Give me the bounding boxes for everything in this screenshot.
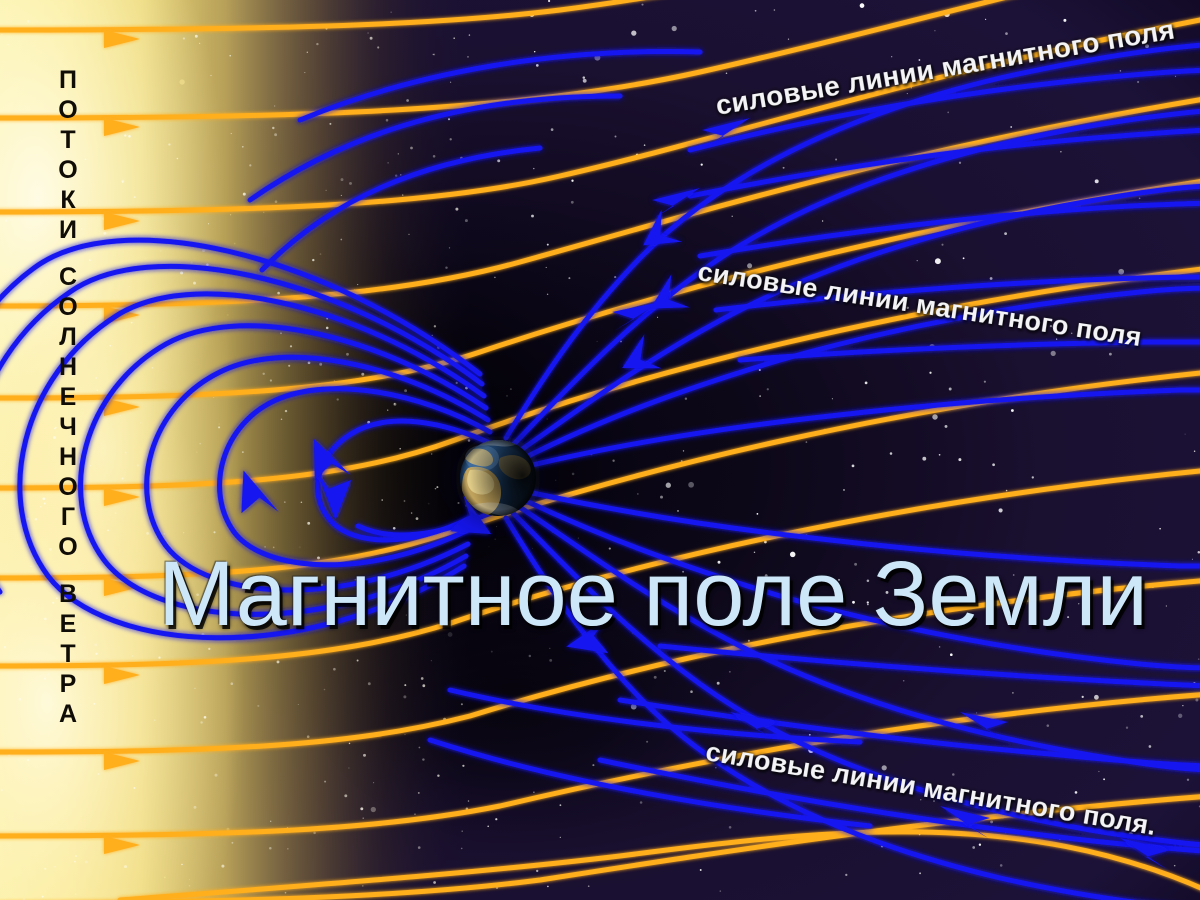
- solar-speckle: [280, 332, 282, 334]
- solar-speckle: [349, 182, 352, 185]
- solar-speckle: [363, 754, 366, 757]
- star: [939, 646, 941, 648]
- solar-speckle: [368, 682, 371, 685]
- star: [732, 216, 733, 217]
- solar-speckle: [341, 195, 342, 196]
- solar-speckle: [93, 703, 95, 705]
- solar-speckle: [243, 193, 246, 196]
- star: [1098, 771, 1099, 772]
- solar-speckle: [431, 660, 432, 661]
- star: [838, 579, 840, 581]
- solar-speckle: [199, 443, 201, 445]
- solar-speckle: [204, 716, 207, 719]
- solar-speckle: [437, 774, 439, 776]
- star: [755, 10, 757, 12]
- solar-speckle: [402, 194, 403, 195]
- solar-speckle: [160, 250, 161, 251]
- star: [1051, 351, 1056, 356]
- solar-speckle: [263, 212, 264, 213]
- star: [890, 452, 893, 455]
- star: [843, 489, 844, 490]
- solar-speckle: [357, 660, 359, 662]
- star: [747, 263, 752, 268]
- solar-speckle: [290, 345, 292, 347]
- star: [911, 87, 912, 88]
- solar-speckle: [177, 158, 179, 160]
- solar-speckle: [461, 830, 462, 831]
- solar-speckle: [450, 138, 452, 140]
- solar-speckle: [317, 556, 320, 559]
- solar-speckle: [418, 792, 420, 794]
- solar-speckle: [221, 865, 224, 868]
- solar-speckle: [462, 765, 464, 767]
- solar-speckle: [432, 335, 433, 336]
- solar-speckle: [168, 143, 170, 145]
- star: [547, 886, 549, 888]
- star: [939, 454, 941, 456]
- solar-speckle: [411, 512, 413, 514]
- solar-speckle: [180, 271, 183, 274]
- star: [1067, 616, 1069, 618]
- solar-speckle: [152, 367, 154, 369]
- solar-speckle: [1, 34, 2, 35]
- solar-speckle: [348, 767, 349, 768]
- star: [972, 846, 975, 849]
- star: [1050, 325, 1052, 327]
- solar-speckle: [4, 646, 6, 648]
- solar-speckle: [124, 134, 126, 136]
- solar-speckle: [433, 881, 436, 884]
- solar-speckle: [344, 794, 347, 797]
- solar-speckle: [270, 821, 271, 822]
- star: [533, 168, 534, 169]
- star: [906, 307, 908, 309]
- star: [882, 765, 887, 770]
- star: [1137, 81, 1139, 83]
- star: [1005, 32, 1008, 35]
- star: [990, 820, 993, 823]
- solar-speckle: [269, 847, 272, 850]
- solar-speckle: [408, 234, 409, 235]
- star: [720, 890, 721, 891]
- solar-speckle: [189, 885, 191, 887]
- star: [1074, 52, 1077, 55]
- star: [1082, 696, 1084, 698]
- star: [1187, 779, 1189, 781]
- solar-speckle: [398, 153, 399, 154]
- star: [903, 680, 905, 682]
- solar-speckle: [158, 657, 160, 659]
- star: [947, 112, 949, 114]
- solar-speckle: [313, 832, 316, 835]
- solar-speckle: [370, 37, 373, 40]
- star: [1063, 19, 1066, 22]
- solar-speckle: [288, 365, 290, 367]
- solar-speckle: [467, 56, 468, 57]
- star: [1175, 76, 1176, 77]
- star: [934, 30, 935, 31]
- star: [672, 26, 677, 31]
- solar-speckle: [360, 807, 363, 810]
- solar-speckle: [435, 488, 437, 490]
- solar-speckle: [183, 37, 185, 39]
- star: [790, 552, 796, 558]
- star: [999, 508, 1003, 512]
- star: [497, 159, 500, 162]
- star: [1078, 603, 1079, 604]
- solar-speckle: [231, 133, 232, 134]
- solar-speckle: [461, 703, 463, 705]
- solar-speckle: [196, 593, 199, 596]
- solar-speckle: [63, 79, 65, 81]
- solar-speckle: [319, 363, 322, 366]
- solar-speckle: [274, 105, 275, 106]
- solar-speckle: [210, 75, 211, 76]
- solar-speckle: [98, 773, 100, 775]
- star: [1198, 658, 1200, 660]
- solar-speckle: [346, 353, 349, 356]
- solar-speckle: [404, 684, 406, 686]
- solar-speckle: [406, 99, 409, 102]
- solar-speckle: [406, 615, 407, 616]
- star: [835, 158, 837, 160]
- star: [588, 885, 590, 887]
- solar-speckle: [333, 668, 336, 671]
- solar-speckle: [431, 453, 432, 454]
- solar-speckle: [62, 201, 64, 203]
- solar-speckle: [181, 864, 182, 865]
- solar-speckle: [133, 787, 135, 789]
- star: [1139, 197, 1141, 199]
- star: [1013, 574, 1015, 576]
- star: [860, 3, 865, 8]
- solar-speckle: [395, 174, 397, 176]
- star: [644, 144, 646, 146]
- star: [583, 76, 586, 79]
- star: [832, 398, 833, 399]
- solar-speckle: [42, 896, 44, 898]
- star: [551, 128, 554, 131]
- star: [1120, 70, 1122, 72]
- star: [1178, 714, 1182, 718]
- solar-speckle: [277, 292, 280, 295]
- star: [1159, 528, 1161, 530]
- solar-speckle: [71, 374, 74, 377]
- solar-speckle: [357, 284, 358, 285]
- solar-speckle: [231, 842, 233, 844]
- star: [1118, 269, 1124, 275]
- solar-speckle: [61, 76, 63, 78]
- solar-speckle: [7, 44, 8, 45]
- solar-wind-glow: [0, 0, 470, 900]
- solar-speckle: [35, 518, 38, 521]
- star: [806, 441, 808, 443]
- solar-speckle: [121, 477, 123, 479]
- solar-speckle: [85, 159, 87, 161]
- star: [726, 73, 728, 75]
- solar-speckle: [373, 782, 374, 783]
- star: [1166, 605, 1167, 606]
- star: [1060, 151, 1061, 152]
- star: [985, 19, 986, 20]
- star: [1047, 724, 1050, 727]
- solar-speckle: [195, 35, 198, 38]
- star: [536, 870, 538, 872]
- star: [1095, 179, 1099, 183]
- solar-speckle: [362, 885, 364, 887]
- solar-speckle: [272, 127, 274, 129]
- solar-speckle: [377, 46, 379, 48]
- solar-speckle: [436, 486, 438, 488]
- solar-speckle: [274, 133, 277, 136]
- star: [935, 258, 941, 264]
- solar-speckle: [134, 196, 136, 198]
- solar-speckle: [208, 223, 209, 224]
- solar-speckle: [47, 673, 49, 675]
- solar-speckle: [94, 643, 97, 646]
- star: [729, 826, 732, 829]
- solar-speckle: [122, 181, 124, 183]
- solar-speckle: [193, 282, 196, 285]
- solar-speckle: [199, 43, 200, 44]
- star: [867, 580, 870, 583]
- solar-speckle: [394, 403, 395, 404]
- solar-speckle: [218, 426, 220, 428]
- solar-speckle: [119, 415, 120, 416]
- star: [1071, 333, 1072, 334]
- star: [1094, 695, 1099, 700]
- solar-speckle: [403, 695, 406, 698]
- star: [867, 601, 869, 603]
- solar-speckle: [363, 818, 364, 819]
- star: [984, 381, 986, 383]
- star: [1140, 715, 1143, 718]
- solar-speckle: [27, 759, 29, 761]
- solar-speckle: [109, 345, 111, 347]
- star: [963, 257, 965, 259]
- star: [1174, 865, 1176, 867]
- solar-speckle: [434, 325, 436, 327]
- star: [1195, 699, 1198, 702]
- solar-speckle: [304, 72, 305, 73]
- solar-speckle: [422, 684, 425, 687]
- star: [919, 872, 921, 874]
- solar-speckle: [26, 518, 29, 521]
- solar-speckle: [469, 34, 470, 35]
- solar-speckle: [242, 146, 244, 148]
- solar-speckle: [115, 512, 116, 513]
- solar-speckle: [301, 501, 303, 503]
- solar-speckle: [132, 655, 134, 657]
- star: [922, 457, 926, 461]
- solar-speckle: [95, 653, 97, 655]
- solar-speckle: [49, 548, 52, 551]
- solar-speckle: [44, 502, 46, 504]
- solar-speckle: [229, 55, 231, 57]
- star: [701, 163, 703, 165]
- solar-speckle: [146, 532, 149, 535]
- star: [992, 463, 995, 466]
- star: [854, 563, 857, 566]
- solar-speckle: [281, 418, 283, 420]
- solar-speckle: [125, 452, 127, 454]
- star: [1084, 821, 1088, 825]
- star: [1109, 353, 1112, 356]
- solar-speckle: [257, 705, 259, 707]
- solar-speckle: [381, 499, 383, 501]
- star: [1032, 476, 1034, 478]
- star: [941, 244, 943, 246]
- solar-speckle: [340, 239, 342, 241]
- solar-speckle: [326, 327, 329, 330]
- star: [950, 653, 953, 656]
- solar-speckle: [410, 147, 413, 150]
- star: [852, 465, 855, 468]
- solar-speckle: [285, 410, 287, 412]
- solar-speckle: [324, 781, 326, 783]
- star: [976, 712, 977, 713]
- solar-speckle: [208, 648, 210, 650]
- solar-speckle: [386, 119, 389, 122]
- solar-speckle: [416, 517, 419, 520]
- star: [774, 9, 776, 11]
- solar-speckle: [129, 286, 130, 287]
- solar-speckle: [361, 373, 364, 376]
- solar-speckle: [163, 533, 164, 534]
- solar-speckle: [1, 789, 3, 791]
- star: [979, 844, 981, 846]
- solar-speckle: [202, 249, 205, 252]
- star: [959, 162, 961, 164]
- solar-speckle: [355, 579, 357, 581]
- solar-speckle: [200, 721, 202, 723]
- solar-speckle: [52, 602, 54, 604]
- star: [700, 869, 702, 871]
- star: [865, 382, 868, 385]
- star: [1075, 791, 1078, 794]
- solar-speckle: [54, 866, 56, 868]
- solar-speckle: [393, 527, 396, 530]
- magnetosphere-diagram: ПОТОКИСОЛНЕЧНОГОВЕТРА силовые линии магн…: [0, 0, 1200, 900]
- star: [641, 4, 643, 6]
- solar-speckle: [242, 451, 243, 452]
- solar-speckle: [96, 377, 97, 378]
- star: [1012, 692, 1014, 694]
- solar-speckle: [391, 12, 392, 13]
- solar-speckle: [277, 660, 280, 663]
- star: [1056, 339, 1057, 340]
- star: [907, 93, 908, 94]
- solar-speckle: [468, 439, 471, 442]
- star: [919, 59, 921, 61]
- solar-speckle: [53, 436, 56, 439]
- star: [1010, 126, 1012, 128]
- star: [1182, 705, 1183, 706]
- solar-speckle: [387, 162, 388, 163]
- solar-speckle: [44, 678, 46, 680]
- star: [1011, 409, 1014, 412]
- star: [1192, 559, 1193, 560]
- solar-speckle: [457, 502, 459, 504]
- solar-speckle: [44, 868, 46, 870]
- solar-speckle: [215, 774, 218, 777]
- star: [548, 0, 550, 2]
- star: [1006, 490, 1008, 492]
- solar-speckle: [224, 621, 226, 623]
- star: [534, 51, 535, 52]
- solar-speckle: [349, 743, 351, 745]
- star: [920, 799, 921, 800]
- solar-speckle: [419, 747, 421, 749]
- solar-speckle: [308, 361, 311, 364]
- star: [952, 773, 955, 776]
- star: [933, 800, 935, 802]
- star: [1145, 44, 1149, 48]
- solar-speckle: [103, 232, 106, 235]
- star: [615, 136, 617, 138]
- solar-speckle: [89, 259, 91, 261]
- solar-speckle: [329, 123, 331, 125]
- solar-speckle: [312, 259, 314, 261]
- solar-speckle: [19, 698, 22, 701]
- solar-speckle: [74, 861, 76, 863]
- solar-speckle: [30, 566, 31, 567]
- solar-speckle: [194, 688, 196, 690]
- solar-speckle: [284, 501, 286, 503]
- solar-speckle: [107, 530, 109, 532]
- star: [1103, 778, 1105, 780]
- star: [867, 604, 869, 606]
- solar-speckle: [264, 546, 266, 548]
- solar-speckle: [273, 547, 275, 549]
- solar-speckle: [287, 848, 288, 849]
- solar-speckle: [270, 379, 272, 381]
- solar-speckle: [124, 865, 127, 868]
- star: [1004, 232, 1007, 235]
- solar-speckle: [433, 155, 436, 158]
- star: [945, 425, 948, 428]
- solar-speckle: [140, 422, 141, 423]
- solar-speckle: [316, 43, 318, 45]
- solar-speckle: [307, 522, 310, 525]
- solar-speckle: [455, 208, 458, 211]
- solar-speckle: [97, 390, 98, 391]
- solar-speckle: [213, 531, 215, 533]
- solar-speckle: [56, 108, 57, 109]
- solar-speckle: [23, 499, 25, 501]
- star: [845, 874, 847, 876]
- solar-speckle: [54, 428, 56, 430]
- solar-speckle: [85, 861, 88, 864]
- diagram-canvas: [0, 0, 1200, 900]
- star: [775, 286, 777, 288]
- star: [1126, 727, 1128, 729]
- solar-speckle: [404, 500, 406, 502]
- solar-speckle: [42, 497, 45, 500]
- solar-speckle: [137, 464, 139, 466]
- solar-speckle: [230, 682, 233, 685]
- solar-speckle: [337, 398, 339, 400]
- solar-speckle: [307, 52, 308, 53]
- star: [822, 220, 823, 221]
- star: [631, 30, 636, 35]
- solar-speckle: [298, 704, 299, 705]
- solar-speckle: [399, 448, 401, 450]
- star: [990, 277, 993, 280]
- solar-speckle: [183, 532, 184, 533]
- solar-speckle: [81, 228, 82, 229]
- solar-speckle: [387, 409, 388, 410]
